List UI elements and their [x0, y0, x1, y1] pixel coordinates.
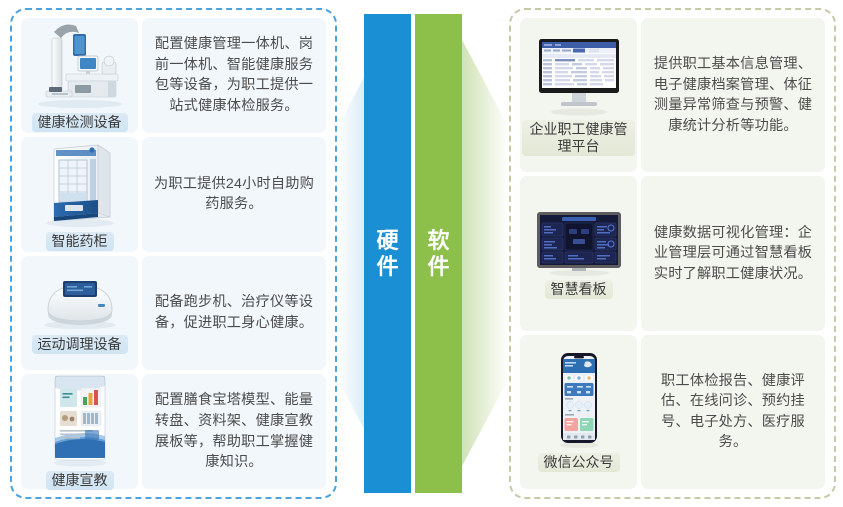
software-wing-shape	[461, 38, 509, 468]
software-bar-char-2: 件	[427, 254, 449, 280]
hardware-label-exercise-device: 运动调理设备	[32, 335, 128, 354]
center-arrow-band: 硬 件 软 件	[337, 0, 509, 507]
software-bar-label: 软 件	[427, 228, 449, 280]
software-label-management-platform: 企业职工健康管理平台	[522, 120, 635, 156]
smartphone-icon	[549, 350, 609, 450]
health-check-kiosk-icon	[28, 18, 132, 110]
diagram-root: 健康检测设备 配置健康管理一体机、岗前一体机、智能健康服务包等设备，为职工提供一…	[0, 0, 843, 507]
software-desc-dashboard: 健康数据可视化管理：企业管理层可通过智慧看板实时了解职工健康状况。	[649, 223, 817, 285]
software-panel: 企业职工健康管理平台 提供职工基本信息管理、电子健康档案管理、体征测量异常筛查与…	[509, 8, 836, 499]
software-desc-management-platform: 提供职工基本信息管理、电子健康档案管理、体征测量异常筛查与预警、健康统计分析等功…	[649, 54, 817, 136]
hardware-media-health-education: 健康宣教	[21, 374, 138, 489]
hardware-media-medicine-cabinet: 智能药柜	[21, 137, 138, 252]
hardware-row-exercise-device: 运动调理设备 配备跑步机、治疗仪等设备，促进职工身心健康。	[21, 256, 326, 371]
hardware-media-exercise-device: 运动调理设备	[21, 256, 138, 371]
hardware-desc-cell-health-education: 配置膳食宝塔模型、能量转盘、资料架、健康宣教展板等，帮助职工掌握健康知识。	[142, 374, 326, 489]
desktop-monitor-icon	[531, 33, 627, 117]
hardware-desc-exercise-device: 配备跑步机、治疗仪等设备，促进职工身心健康。	[150, 292, 318, 333]
software-media-wechat-account: 微信公众号	[520, 335, 637, 489]
software-media-management-platform: 企业职工健康管理平台	[520, 18, 637, 172]
hardware-bar-char-2: 件	[376, 254, 398, 280]
dashboard-screen-icon	[532, 207, 626, 277]
software-media-dashboard: 智慧看板	[520, 176, 637, 330]
exercise-therapy-device-icon	[30, 270, 130, 332]
software-label-dashboard: 智慧看板	[545, 280, 613, 299]
health-education-board-icon	[43, 372, 117, 468]
hardware-panel: 健康检测设备 配置健康管理一体机、岗前一体机、智能健康服务包等设备，为职工提供一…	[10, 8, 337, 499]
hardware-desc-cell-health-check: 配置健康管理一体机、岗前一体机、智能健康服务包等设备，为职工提供一站式健康体检服…	[142, 18, 326, 133]
hardware-desc-cell-exercise-device: 配备跑步机、治疗仪等设备，促进职工身心健康。	[142, 256, 326, 371]
hardware-row-health-check: 健康检测设备 配置健康管理一体机、岗前一体机、智能健康服务包等设备，为职工提供一…	[21, 18, 326, 133]
hardware-label-health-education: 健康宣教	[46, 471, 114, 490]
software-desc-cell-wechat-account: 职工体检报告、健康评估、在线问诊、预约挂号、电子处方、医疗服务。	[641, 335, 825, 489]
hardware-media-health-check: 健康检测设备	[21, 18, 138, 133]
software-row-management-platform: 企业职工健康管理平台 提供职工基本信息管理、电子健康档案管理、体征测量异常筛查与…	[520, 18, 825, 172]
hardware-bar-label: 硬 件	[376, 228, 398, 280]
smart-medicine-cabinet-icon	[32, 137, 128, 229]
hardware-desc-cell-medicine-cabinet: 为职工提供24小时自助购药服务。	[142, 137, 326, 252]
software-bar-char-1: 软	[427, 228, 449, 254]
software-desc-cell-management-platform: 提供职工基本信息管理、电子健康档案管理、体征测量异常筛查与预警、健康统计分析等功…	[641, 18, 825, 172]
hardware-bar: 硬 件	[364, 14, 411, 493]
software-row-dashboard: 智慧看板 健康数据可视化管理：企业管理层可通过智慧看板实时了解职工健康状况。	[520, 176, 825, 330]
hardware-label-health-check: 健康检测设备	[32, 113, 128, 132]
software-desc-wechat-account: 职工体检报告、健康评估、在线问诊、预约挂号、电子处方、医疗服务。	[649, 371, 817, 453]
hardware-desc-medicine-cabinet: 为职工提供24小时自助购药服务。	[150, 174, 318, 215]
software-label-wechat-account: 微信公众号	[538, 453, 620, 472]
hardware-desc-health-education: 配置膳食宝塔模型、能量转盘、资料架、健康宣教展板等，帮助职工掌握健康知识。	[150, 390, 318, 472]
software-bar: 软 件	[415, 14, 462, 493]
software-desc-cell-dashboard: 健康数据可视化管理：企业管理层可通过智慧看板实时了解职工健康状况。	[641, 176, 825, 330]
hardware-row-health-education: 健康宣教 配置膳食宝塔模型、能量转盘、资料架、健康宣教展板等，帮助职工掌握健康知…	[21, 374, 326, 489]
hardware-row-medicine-cabinet: 智能药柜 为职工提供24小时自助购药服务。	[21, 137, 326, 252]
hardware-desc-health-check: 配置健康管理一体机、岗前一体机、智能健康服务包等设备，为职工提供一站式健康体检服…	[150, 34, 318, 116]
software-row-wechat-account: 微信公众号 职工体检报告、健康评估、在线问诊、预约挂号、电子处方、医疗服务。	[520, 335, 825, 489]
hardware-bar-char-1: 硬	[376, 228, 398, 254]
hardware-label-medicine-cabinet: 智能药柜	[46, 232, 114, 251]
